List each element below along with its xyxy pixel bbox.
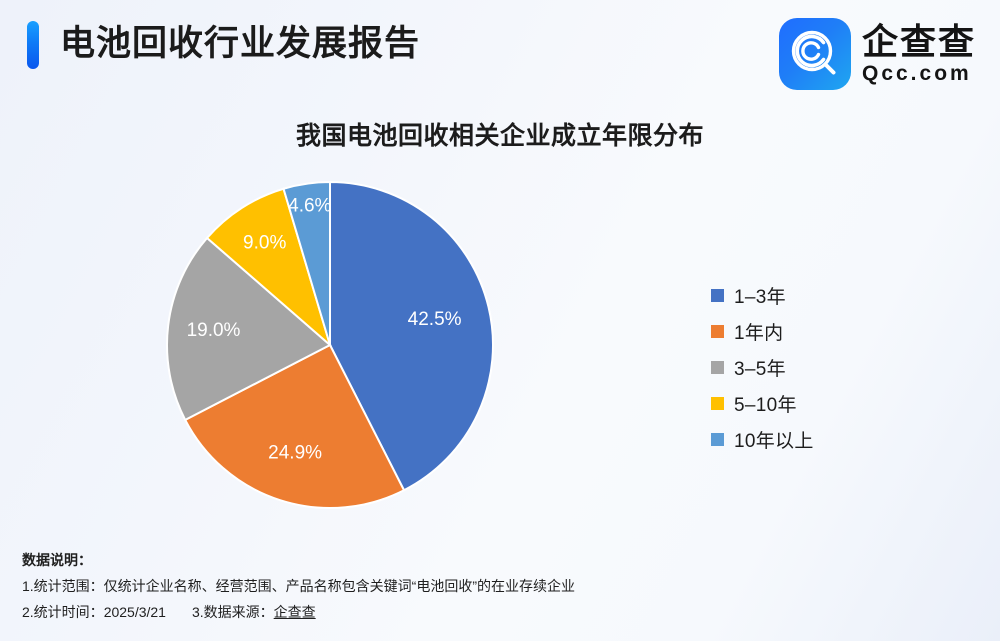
legend-swatch bbox=[711, 325, 724, 338]
pie-slice-label: 24.9% bbox=[268, 443, 322, 464]
legend-label: 3–5年 bbox=[734, 354, 786, 381]
legend-item[interactable]: 1–3年 bbox=[711, 277, 911, 313]
note-time-label: 2.统计时间： bbox=[22, 604, 104, 620]
chart-title: 我国电池回收相关企业成立年限分布 bbox=[0, 116, 1000, 152]
note-time-and-source: 2.统计时间：2025/3/213.数据来源：企查查 bbox=[22, 599, 972, 625]
legend-label: 10年以上 bbox=[734, 426, 814, 453]
brand-logo: 企查查 Qcc.com bbox=[779, 15, 976, 93]
pie-chart: 42.5%24.9%19.0%9.0%4.6% bbox=[167, 182, 493, 508]
note-time-value: 2025/3/21 bbox=[104, 604, 166, 620]
page-title: 电池回收行业发展报告 bbox=[60, 20, 420, 68]
note-scope: 1.统计范围：仅统计企业名称、经营范围、产品名称包含关键词“电池回收”的在业存续… bbox=[22, 573, 972, 599]
note-source-value[interactable]: 企查查 bbox=[274, 604, 316, 620]
legend-item[interactable]: 3–5年 bbox=[711, 349, 911, 385]
legend-swatch bbox=[711, 361, 724, 374]
brand-name-cn: 企查查 bbox=[862, 23, 976, 61]
qcc-logo-icon bbox=[779, 18, 851, 90]
pie-slice-label: 19.0% bbox=[187, 320, 241, 341]
title-accent-bar bbox=[27, 21, 39, 69]
footer-notes: 数据说明： 1.统计范围：仅统计企业名称、经营范围、产品名称包含关键词“电池回收… bbox=[22, 547, 972, 625]
legend-item[interactable]: 1年内 bbox=[711, 313, 911, 349]
legend-label: 1–3年 bbox=[734, 282, 786, 309]
legend-label: 1年内 bbox=[734, 318, 783, 345]
brand-name-en: Qcc.com bbox=[862, 62, 972, 86]
chart-legend: 1–3年1年内3–5年5–10年10年以上 bbox=[711, 277, 911, 457]
legend-swatch bbox=[711, 397, 724, 410]
legend-swatch bbox=[711, 289, 724, 302]
legend-item[interactable]: 5–10年 bbox=[711, 385, 911, 421]
note-source-label: 3.数据来源： bbox=[192, 604, 274, 620]
page-header: 电池回收行业发展报告 企查查 Qcc.com bbox=[0, 0, 1000, 105]
pie-slice-group bbox=[167, 182, 493, 508]
pie-slice-label: 9.0% bbox=[243, 233, 286, 254]
pie-slice-label: 4.6% bbox=[288, 195, 331, 216]
notes-heading: 数据说明： bbox=[22, 547, 972, 573]
legend-item[interactable]: 10年以上 bbox=[711, 421, 911, 457]
brand-wordmark: 企查查 Qcc.com bbox=[862, 18, 976, 90]
pie-chart-svg: 42.5%24.9%19.0%9.0%4.6% bbox=[167, 182, 493, 508]
legend-swatch bbox=[711, 433, 724, 446]
legend-label: 5–10年 bbox=[734, 390, 797, 417]
pie-slice-label: 42.5% bbox=[408, 309, 462, 330]
